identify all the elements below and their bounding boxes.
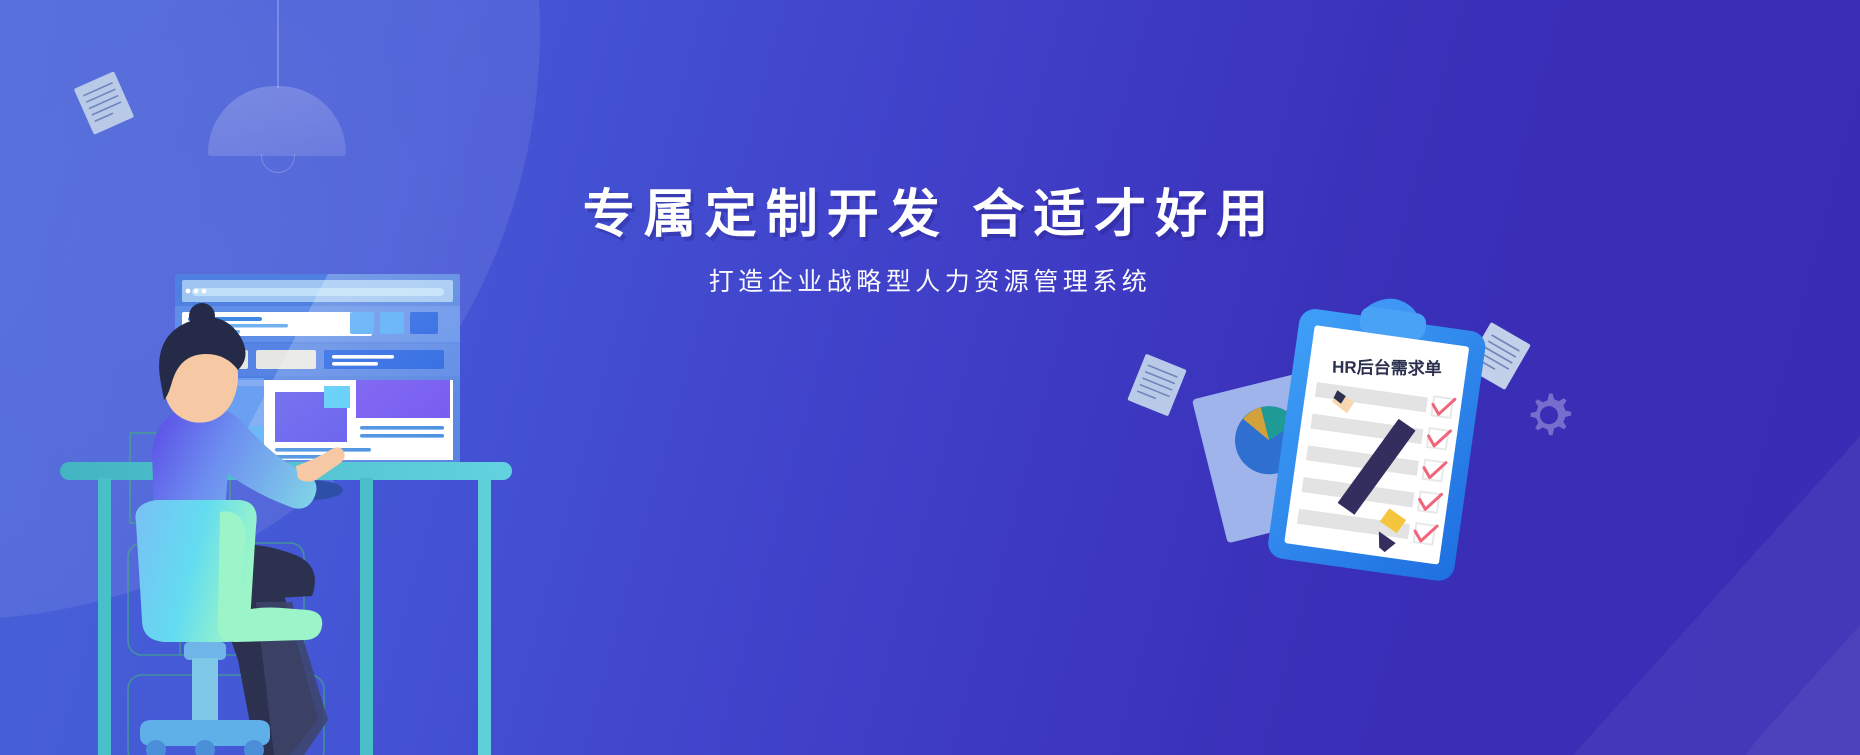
hero-banner: 专属定制开发 合适才好用 打造企业战略型人力资源管理系统 bbox=[0, 0, 1860, 755]
desk-leg-right bbox=[478, 478, 491, 755]
developer-at-desk-illustration bbox=[60, 250, 590, 755]
banner-subheadline: 打造企业战略型人力资源管理系统 bbox=[0, 262, 1860, 298]
lamp-bulb bbox=[261, 154, 295, 173]
chair-cylinder-top bbox=[184, 642, 226, 660]
lamp-shade bbox=[208, 86, 346, 156]
hr-clipboard-illustration: HR后台需求单 bbox=[1190, 290, 1530, 620]
clipboard: HR后台需求单 bbox=[1266, 286, 1490, 583]
lamp-cord bbox=[277, 0, 279, 88]
document-icon-right-upper bbox=[1127, 354, 1187, 417]
banner-headline: 专属定制开发 合适才好用 bbox=[0, 186, 1860, 246]
person-hair-bun bbox=[189, 303, 215, 329]
hanging-lamp-icon bbox=[208, 0, 348, 175]
clipboard-title: HR后台需求单 bbox=[1332, 357, 1442, 379]
headline-block: 专属定制开发 合适才好用 打造企业战略型人力资源管理系统 bbox=[0, 186, 1860, 298]
chair-cylinder bbox=[192, 658, 218, 720]
desk-leg-left bbox=[98, 478, 111, 755]
desk-leg-mid bbox=[360, 478, 373, 755]
